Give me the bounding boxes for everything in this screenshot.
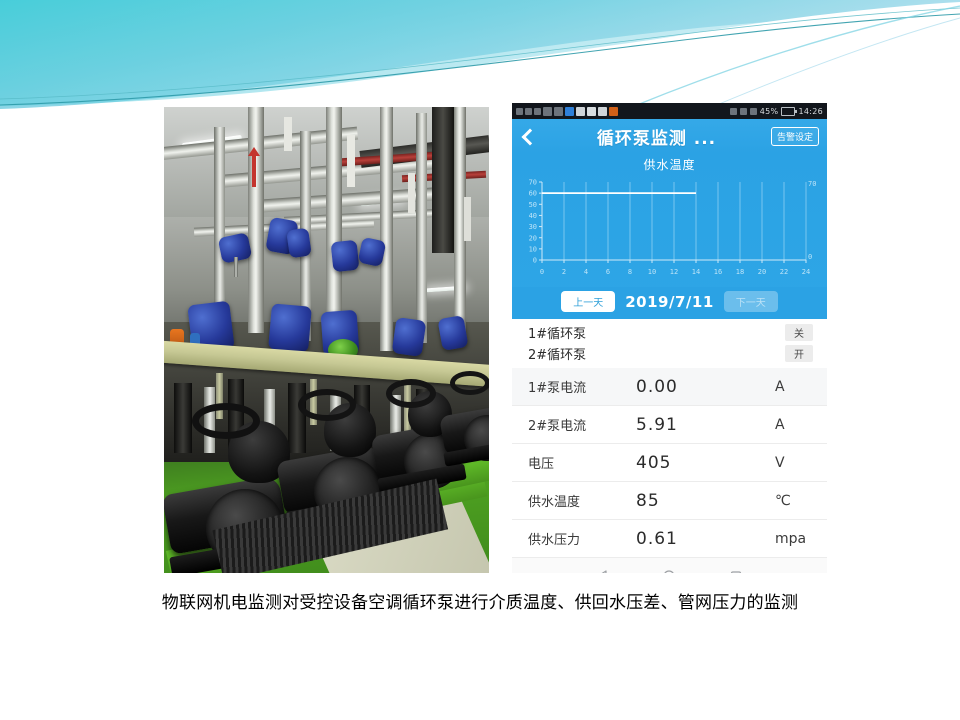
chart-title: 供水温度 <box>512 156 827 173</box>
measurement-list: 1#泵电流0.00A2#泵电流5.91A电压405V供水温度85℃供水压力0.6… <box>512 368 827 558</box>
shield-icon <box>750 108 757 115</box>
svg-text:0: 0 <box>540 268 544 276</box>
slide-caption: 物联网机电监测对受控设备空调循环泵进行介质温度、供回水压差、管网压力的监测 <box>0 588 960 613</box>
status-bar-clock: 14:26 <box>798 107 823 116</box>
notification-icon <box>534 108 541 115</box>
app-icon <box>609 107 618 116</box>
measurement-label: 供水压力 <box>528 529 636 548</box>
pump-status-name: 2#循环泵 <box>528 344 785 363</box>
measurement-unit: A <box>775 379 817 395</box>
svg-text:60: 60 <box>529 190 537 198</box>
measurement-unit: V <box>775 455 817 471</box>
svg-text:18: 18 <box>736 268 744 276</box>
measurement-value: 0.61 <box>636 529 775 549</box>
status-bar-system-icons: 45% 14:26 <box>730 107 823 116</box>
pump-status-row: 2#循环泵开 <box>512 343 827 364</box>
square-recents-icon[interactable] <box>729 569 743 573</box>
camera-icon <box>587 107 596 116</box>
pump-status-row: 1#循环泵关 <box>512 322 827 343</box>
supply-water-temperature-chart-panel: 供水温度 01020304050607002468101214161820222… <box>512 153 827 319</box>
svg-text:20: 20 <box>758 268 766 276</box>
measurement-value: 5.91 <box>636 415 775 435</box>
svg-text:8: 8 <box>628 268 632 276</box>
triangle-back-icon[interactable] <box>596 569 610 573</box>
measurement-value: 0.00 <box>636 377 775 397</box>
android-navigation-bar <box>512 558 827 573</box>
day-navigation-bar: 上一天 2019/7/11 下一天 <box>512 287 827 319</box>
status-bar-notification-icons <box>516 107 730 116</box>
svg-text:50: 50 <box>529 201 537 209</box>
svg-text:4: 4 <box>584 268 588 276</box>
app-bar: 循环泵监测 ... 告警设定 <box>512 119 827 153</box>
page-title: 循环泵监测 ... <box>542 124 771 149</box>
signal-icon <box>543 107 552 116</box>
svg-text:14: 14 <box>692 268 700 276</box>
svg-text:16: 16 <box>714 268 722 276</box>
pump-status-badge: 开 <box>785 345 813 362</box>
svg-text:0: 0 <box>808 253 812 261</box>
chevron-left-icon[interactable] <box>520 128 536 144</box>
wifi-icon <box>565 107 574 116</box>
selected-date-label: 2019/7/11 <box>625 293 714 311</box>
notification-icon <box>525 108 532 115</box>
svg-text:22: 22 <box>780 268 788 276</box>
mechanical-room-photo <box>164 107 489 573</box>
svg-text:12: 12 <box>670 268 678 276</box>
vibrate-icon <box>740 108 747 115</box>
previous-day-button[interactable]: 上一天 <box>561 291 615 312</box>
battery-icon <box>781 107 795 116</box>
alarm-setting-button[interactable]: 告警设定 <box>771 127 819 146</box>
measurement-row: 供水压力0.61mpa <box>512 520 827 558</box>
measurement-label: 电压 <box>528 453 636 472</box>
svg-text:2: 2 <box>562 268 566 276</box>
svg-text:10: 10 <box>529 245 537 253</box>
svg-text:70: 70 <box>808 180 816 188</box>
battery-percent-label: 45% <box>760 107 779 116</box>
measurement-label: 1#泵电流 <box>528 377 636 396</box>
measurement-label: 2#泵电流 <box>528 415 636 434</box>
circle-home-icon[interactable] <box>662 569 676 573</box>
signal-icon <box>554 107 563 116</box>
svg-text:40: 40 <box>529 212 537 220</box>
measurement-row: 2#泵电流5.91A <box>512 406 827 444</box>
phone-app-screenshot: 45% 14:26 循环泵监测 ... 告警设定 供水温度 0102030405… <box>512 103 827 573</box>
measurement-row: 供水温度85℃ <box>512 482 827 520</box>
measurement-unit: ℃ <box>775 493 817 509</box>
svg-text:24: 24 <box>802 268 810 276</box>
svg-text:0: 0 <box>533 257 537 265</box>
svg-text:10: 10 <box>648 268 656 276</box>
measurement-row: 电压405V <box>512 444 827 482</box>
measurement-label: 供水温度 <box>528 491 636 510</box>
measurement-row: 1#泵电流0.00A <box>512 368 827 406</box>
pump-status-list: 1#循环泵关2#循环泵开 <box>512 319 827 368</box>
measurement-unit: mpa <box>775 531 817 547</box>
svg-text:70: 70 <box>529 179 537 187</box>
slide-decorative-header <box>0 0 960 112</box>
eye-icon <box>730 108 737 115</box>
android-status-bar: 45% 14:26 <box>512 103 827 119</box>
line-chart-svg: 010203040506070024681012141618202224700 <box>516 174 823 282</box>
svg-text:20: 20 <box>529 234 537 242</box>
svg-text:30: 30 <box>529 223 537 231</box>
measurement-unit: A <box>775 417 817 433</box>
gallery-icon <box>598 107 607 116</box>
chart-plot-area: 010203040506070024681012141618202224700 <box>512 174 827 287</box>
measurement-value: 85 <box>636 491 775 511</box>
pump-status-name: 1#循环泵 <box>528 323 785 342</box>
next-day-button[interactable]: 下一天 <box>724 291 778 312</box>
measurement-value: 405 <box>636 453 775 473</box>
pump-status-badge: 关 <box>785 324 813 341</box>
notification-icon <box>516 108 523 115</box>
svg-text:6: 6 <box>606 268 610 276</box>
link-icon <box>576 107 585 116</box>
